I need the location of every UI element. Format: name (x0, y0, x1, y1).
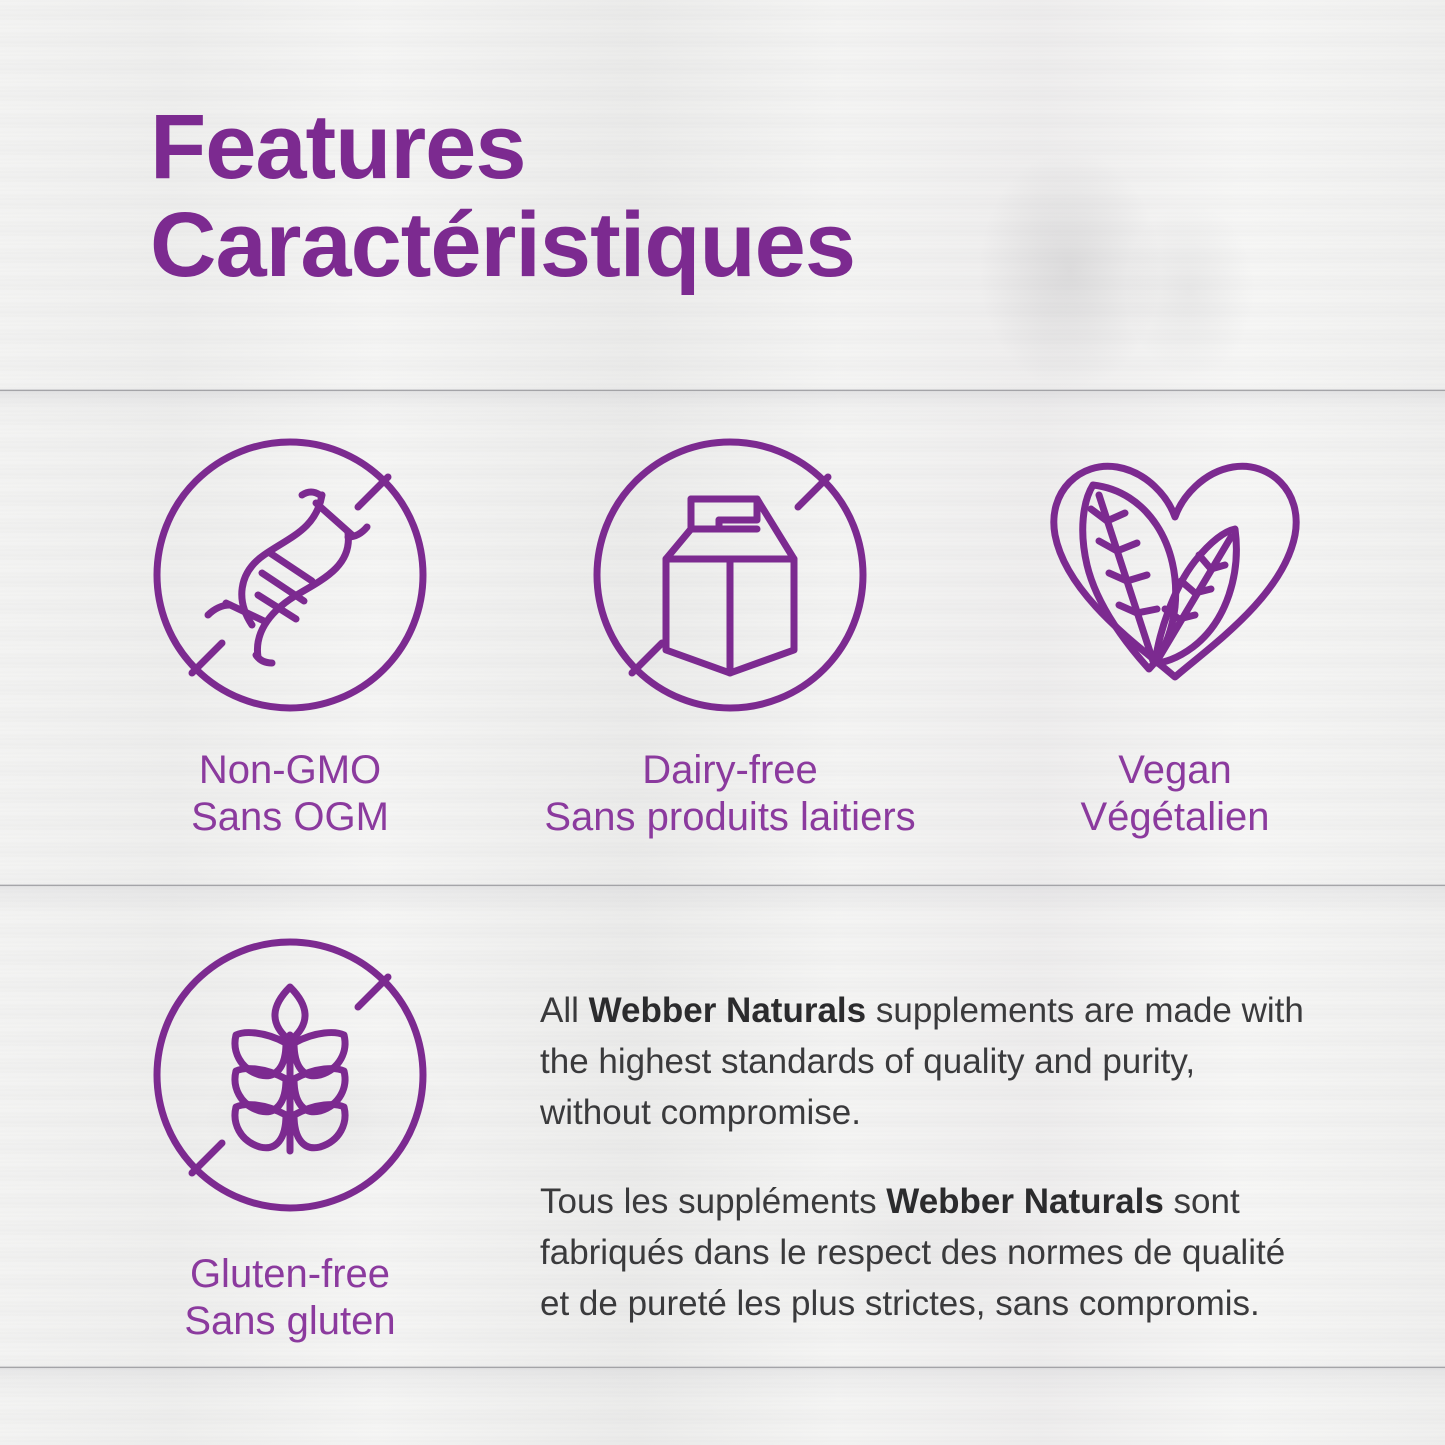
brand-name-fr: Webber Naturals (886, 1182, 1164, 1221)
feature-badge-label: Dairy-free Sans produits laitiers (500, 747, 960, 841)
badge-label-fr: Sans produits laitiers (500, 794, 960, 841)
milk-carton-no-icon (580, 425, 880, 725)
heart-leaves-icon (1025, 425, 1325, 725)
feature-badge-label: Vegan Végétalien (945, 747, 1405, 841)
feature-badge-dairy-free: Dairy-free Sans produits laitiers (500, 425, 960, 841)
description-block: All Webber Naturals supplements are made… (540, 985, 1315, 1330)
description-paragraph-en: All Webber Naturals supplements are made… (540, 985, 1315, 1138)
badge-label-fr: Végétalien (945, 794, 1405, 841)
page-title: Features Caractéristiques (150, 98, 855, 295)
feature-badge-label: Gluten-free Sans gluten (60, 1251, 520, 1345)
badge-label-en: Vegan (1118, 748, 1231, 792)
badge-label-en: Dairy-free (642, 748, 818, 792)
feature-badge-vegan: Vegan Végétalien (945, 425, 1405, 841)
feature-badge-label: Non-GMO Sans OGM (60, 747, 520, 841)
feature-badge-non-gmo: Non-GMO Sans OGM (60, 425, 520, 841)
badge-label-fr: Sans OGM (60, 794, 520, 841)
wheat-no-icon (140, 925, 440, 1225)
page-title-english: Features (150, 98, 855, 196)
badge-label-fr: Sans gluten (60, 1298, 520, 1345)
page-title-french: Caractéristiques (150, 196, 855, 294)
description-paragraph-fr: Tous les suppléments Webber Naturals son… (540, 1176, 1315, 1329)
feature-badge-gluten-free: Gluten-free Sans gluten (60, 925, 520, 1345)
dna-no-icon (140, 425, 440, 725)
badge-label-en: Non-GMO (199, 748, 381, 792)
copy-fr-before: Tous les suppléments (540, 1182, 886, 1221)
badge-label-en: Gluten-free (190, 1252, 390, 1296)
brand-name-en: Webber Naturals (589, 991, 867, 1030)
copy-en-before: All (540, 991, 589, 1030)
